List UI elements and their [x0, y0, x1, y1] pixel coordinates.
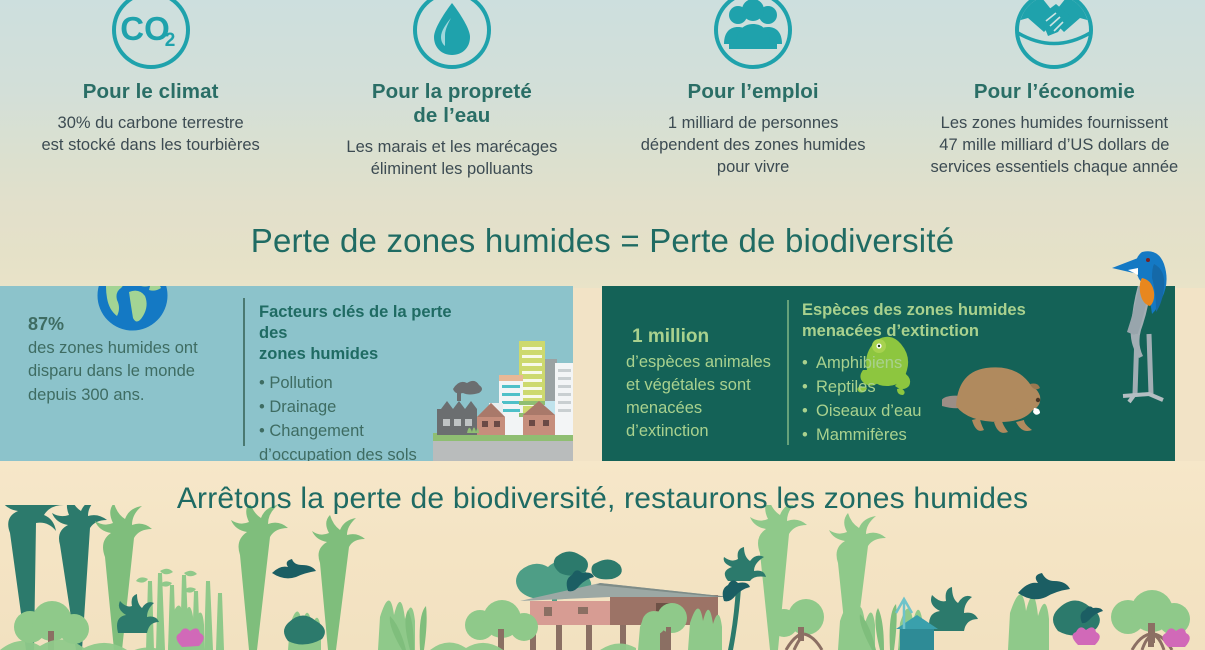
feature-body: 1 milliard de personnes dépendent des zo… — [641, 113, 866, 178]
stat-number: 87% — [28, 314, 223, 335]
co2-icon: CO 2 — [109, 0, 193, 72]
species-stat: 1 million d’espèces animales et végétale… — [626, 326, 786, 443]
list-item: Amphibiens — [802, 351, 1102, 375]
wetland-loss-panel: 87% des zones humides ont disparu dans l… — [0, 286, 573, 461]
species-block: Espèces des zones humides menacées d’ext… — [802, 300, 1102, 447]
feature-title: Pour l’emploi — [688, 80, 819, 104]
feature-water: Pour la propreté de l’eau Les marais et … — [301, 0, 602, 205]
feature-body: Les zones humides fournissent 47 mille m… — [931, 113, 1179, 178]
feature-body: Les marais et les marécages éliminent le… — [346, 137, 557, 181]
feature-climate: CO 2 Pour le climat 30% du carbone terre… — [0, 0, 301, 205]
feature-title: Pour le climat — [83, 80, 219, 104]
kingfisher-icon — [1108, 240, 1180, 330]
stat-number: 1 million — [626, 326, 786, 348]
feature-jobs: Pour l’emploi 1 milliard de personnes dé… — [603, 0, 904, 205]
list-item: Mammifères — [802, 423, 1102, 447]
key-factors-continuation: d’occupation des sols — [259, 444, 459, 461]
feature-economy: Pour l’économie Les zones humides fourni… — [904, 0, 1205, 205]
features-band: CO 2 Pour le climat 30% du carbone terre… — [0, 0, 1205, 205]
bottom-headline: Arrêtons la perte de biodiversité, resta… — [0, 482, 1205, 516]
svg-text:CO: CO — [120, 10, 170, 47]
list-item: Pollution — [259, 372, 459, 396]
svg-text:2: 2 — [164, 30, 175, 51]
list-item: Drainage — [259, 396, 459, 420]
feature-title: Pour la propreté de l’eau — [372, 80, 532, 128]
stat-text: des zones humides ont disparu dans le mo… — [28, 337, 223, 407]
key-factors-title: Facteurs clés de la perte des zones humi… — [259, 302, 459, 365]
threatened-species-panel: 1 million d’espèces animales et végétale… — [602, 286, 1175, 461]
key-factors-block: Facteurs clés de la perte des zones humi… — [259, 302, 459, 461]
list-item: Oiseaux d’eau — [802, 399, 1102, 423]
wetland-loss-stat: 87% des zones humides ont disparu dans l… — [28, 314, 223, 407]
feature-title: Pour l’économie — [974, 80, 1135, 104]
handshake-icon — [1012, 0, 1096, 72]
water-drop-icon — [410, 0, 494, 72]
mid-headline: Perte de zones humides = Perte de biodiv… — [0, 222, 1205, 260]
list-item: Reptiles — [802, 375, 1102, 399]
people-group-icon — [711, 0, 795, 72]
key-factors-list: Pollution Drainage Changement — [259, 372, 459, 444]
panel-divider — [787, 300, 789, 445]
panels-row: 87% des zones humides ont disparu dans l… — [0, 286, 1205, 461]
feature-body: 30% du carbone terrestre est stocké dans… — [41, 113, 259, 157]
species-title: Espèces des zones humides menacées d’ext… — [802, 300, 1102, 343]
list-item: Changement — [259, 420, 459, 444]
species-list: Amphibiens Reptiles Oiseaux d’eau Mammif… — [802, 351, 1102, 447]
wetland-landscape-silhouette — [0, 505, 1205, 650]
panel-divider — [243, 298, 245, 446]
stat-text: d’espèces animales et végétales sont men… — [626, 351, 786, 443]
